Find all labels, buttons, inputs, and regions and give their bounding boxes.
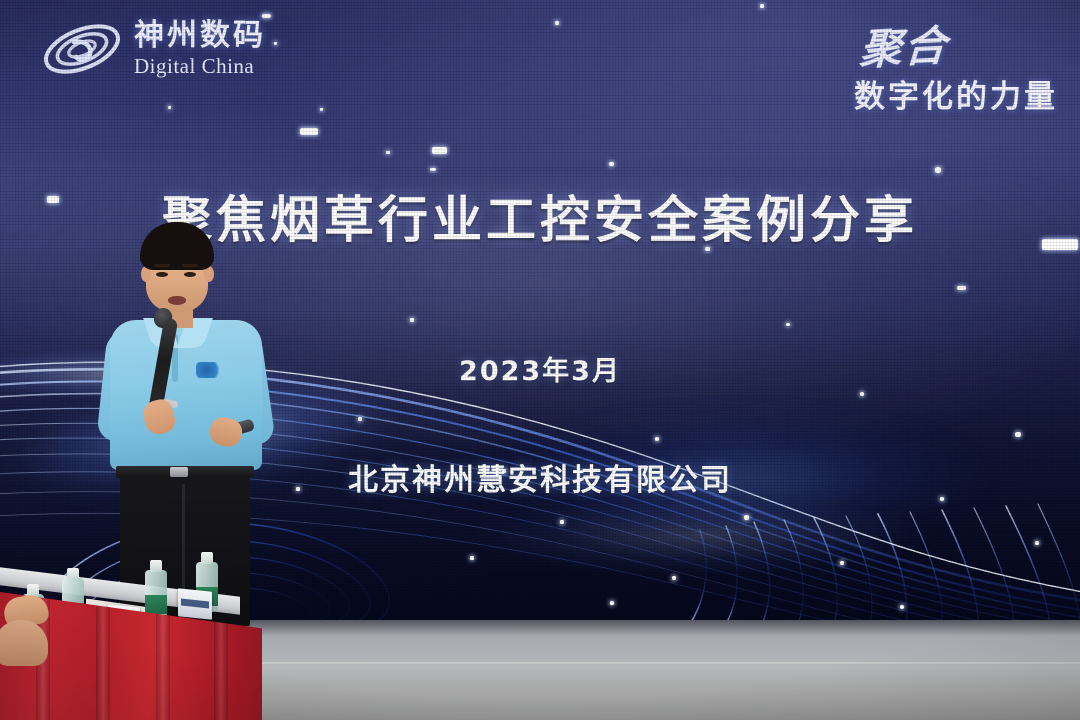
light-particle xyxy=(760,4,764,8)
light-particle xyxy=(935,167,941,173)
speaker-mouth xyxy=(168,296,186,305)
speaker-eyebrow-right xyxy=(182,264,198,267)
light-particle xyxy=(274,42,277,45)
light-particle xyxy=(430,168,436,171)
light-particle xyxy=(300,128,318,135)
light-particle xyxy=(555,21,559,25)
name-card-icon xyxy=(178,588,212,620)
light-particle xyxy=(386,151,390,154)
light-particle xyxy=(320,108,323,111)
speaker-eyebrow-left xyxy=(154,264,170,267)
speaker-eye-left xyxy=(156,272,168,277)
light-particle xyxy=(432,147,447,154)
swirl-galaxy-icon xyxy=(40,16,124,82)
brand-name-en: Digital China xyxy=(134,56,266,77)
conference-stage-photo: 神州数码 Digital China 聚合 数字化的力量 聚焦烟草行业工控安全案… xyxy=(0,0,1080,720)
brand-name-cn: 神州数码 xyxy=(134,21,266,51)
slogan-subtitle: 数字化的力量 xyxy=(854,71,1058,116)
speaker-eye-right xyxy=(184,272,196,277)
speaker-chest-logo-icon xyxy=(196,362,222,378)
brand-logo: 神州数码 Digital China xyxy=(40,16,266,82)
slogan-calligraphy: 聚合 xyxy=(858,12,950,78)
light-particle xyxy=(609,162,614,166)
speaker-hair xyxy=(140,222,214,270)
event-slogan: 聚合 数字化的力量 xyxy=(854,14,1058,116)
water-bottle-icon xyxy=(145,560,167,620)
speaker-belt-buckle xyxy=(170,467,188,477)
light-particle xyxy=(168,106,171,109)
